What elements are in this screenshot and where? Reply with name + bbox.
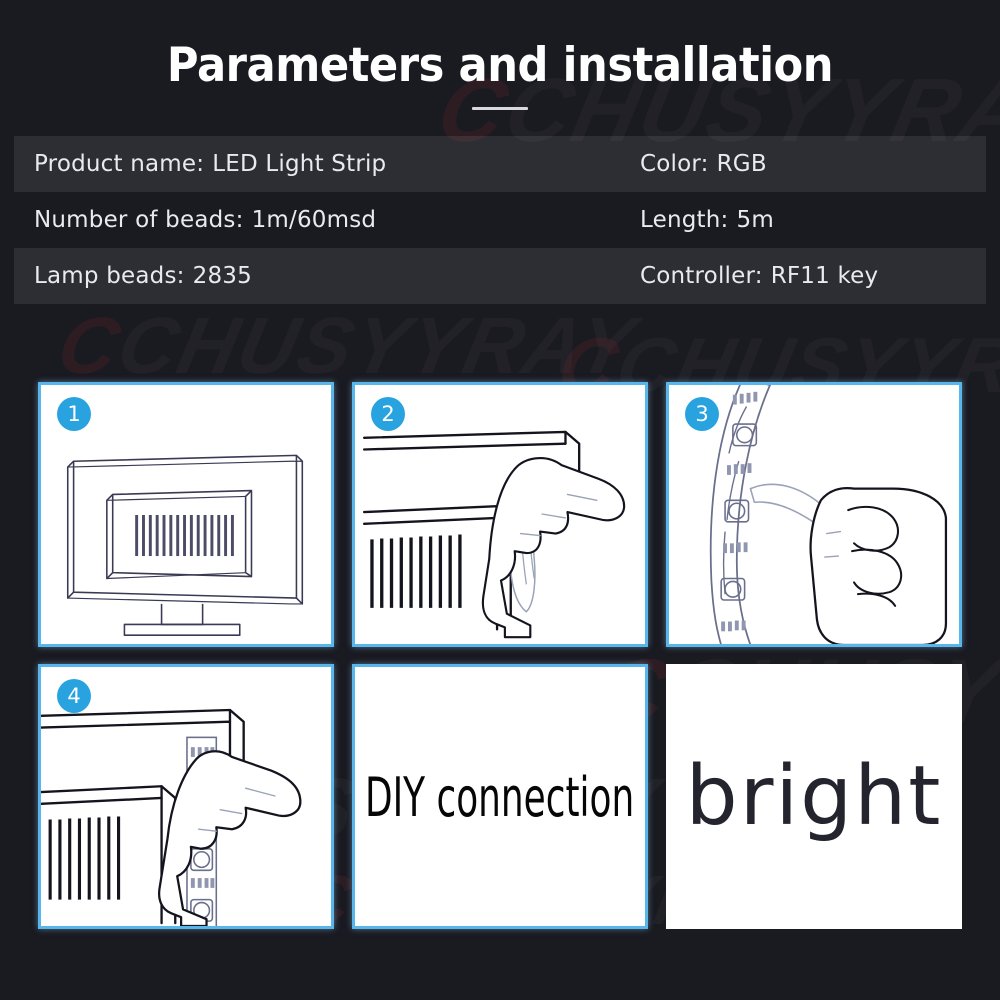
spec-value: 2835 bbox=[193, 263, 252, 289]
step-badge-1: 1 bbox=[57, 397, 91, 431]
spec-cell-left: Lamp beads:2835 bbox=[34, 263, 640, 289]
table-row: Product name:LED Light Strip Color:RGB bbox=[14, 136, 986, 192]
spec-cell-left: Product name:LED Light Strip bbox=[34, 151, 640, 177]
header: Parameters and installation bbox=[0, 0, 1000, 110]
spec-label: Length: bbox=[640, 207, 728, 233]
bright-text-wrapper: bright bbox=[666, 664, 962, 929]
spec-value: 1m/60msd bbox=[252, 207, 377, 233]
spec-cell-right: Color:RGB bbox=[640, 151, 767, 177]
spec-label: Product name: bbox=[34, 151, 204, 177]
spec-label: Color: bbox=[640, 151, 709, 177]
spec-table: Product name:LED Light Strip Color:RGB N… bbox=[0, 136, 1000, 304]
step-badge-3: 3 bbox=[685, 397, 719, 431]
page-title: Parameters and installation bbox=[40, 42, 960, 89]
spec-label: Lamp beads: bbox=[34, 263, 185, 289]
step-panel-2: 2 bbox=[352, 382, 648, 647]
diy-connection-label: DIY connection bbox=[365, 765, 634, 829]
spec-cell-right: Length:5m bbox=[640, 207, 774, 233]
step-panel-4: 4 bbox=[38, 664, 334, 929]
step-panel-bright: bright bbox=[666, 664, 962, 929]
table-row: Lamp beads:2835 Controller:RF11 key bbox=[14, 248, 986, 304]
step-badge-2: 2 bbox=[371, 397, 405, 431]
title-underline-rule bbox=[472, 107, 528, 110]
installation-steps-grid: 1 bbox=[0, 382, 1000, 929]
spec-value: 5m bbox=[736, 207, 773, 233]
spec-cell-left: Number of beads:1m/60msd bbox=[34, 207, 640, 233]
spec-value: RF11 key bbox=[771, 263, 879, 289]
bright-label: bright bbox=[686, 749, 943, 844]
spec-value: LED Light Strip bbox=[212, 151, 386, 177]
spec-value: RGB bbox=[717, 151, 767, 177]
spec-label: Number of beads: bbox=[34, 207, 244, 233]
diy-connection-text-wrapper: DIY connection bbox=[355, 667, 645, 926]
step-panel-diy-connection: DIY connection bbox=[352, 664, 648, 929]
watermark-text: CCHUSYYRAY bbox=[50, 300, 644, 392]
table-row: Number of beads:1m/60msd Length:5m bbox=[14, 192, 986, 248]
step-badge-4: 4 bbox=[57, 679, 91, 713]
spec-label: Controller: bbox=[640, 263, 763, 289]
step-panel-1: 1 bbox=[38, 382, 334, 647]
spec-cell-right: Controller:RF11 key bbox=[640, 263, 878, 289]
step-panel-3: 3 bbox=[666, 382, 962, 647]
